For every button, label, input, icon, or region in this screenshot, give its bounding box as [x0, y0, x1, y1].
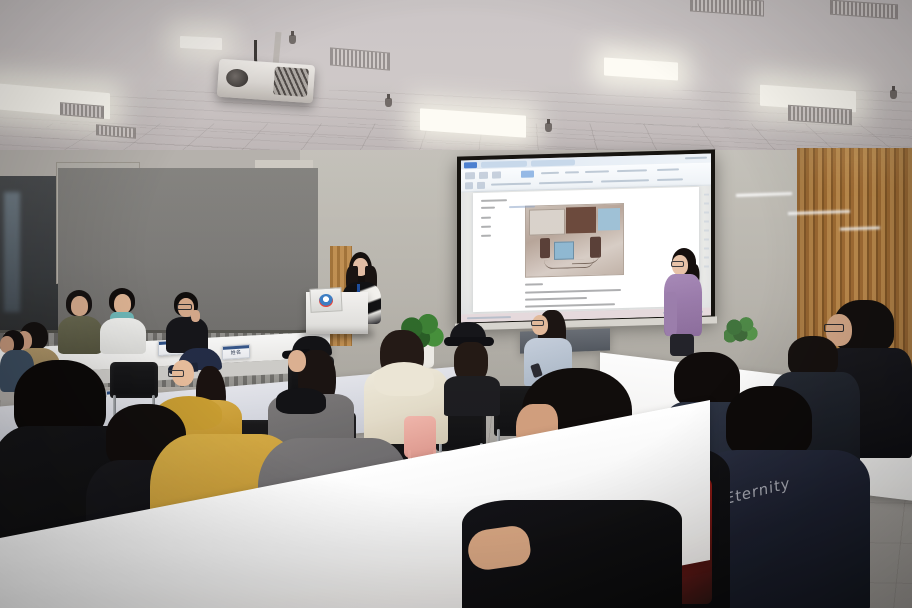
- projector-vent: [273, 67, 309, 97]
- photo-region: [554, 241, 574, 260]
- document-text-line: [481, 207, 495, 209]
- hair: [726, 386, 812, 458]
- air-vent: [690, 0, 764, 17]
- sprinkler-icon: [385, 98, 392, 107]
- app-logo-icon: [464, 162, 477, 168]
- presenter-at-screen: [662, 248, 708, 354]
- photo-region: [529, 209, 565, 236]
- attendee: [364, 330, 448, 444]
- laptop-sticker-icon: [319, 294, 334, 308]
- collar: [276, 388, 326, 414]
- light-panel: [180, 36, 222, 50]
- corridor-window: [0, 176, 63, 344]
- document-tab[interactable]: [481, 160, 527, 167]
- attendee: [462, 500, 682, 608]
- ribbon-label: [657, 178, 683, 181]
- photo-region: [540, 238, 550, 258]
- torso: [58, 316, 102, 354]
- attendee: [166, 292, 208, 352]
- sprinkler-icon: [545, 123, 552, 132]
- ribbon-icon[interactable]: [521, 170, 534, 177]
- glasses-icon: [168, 370, 184, 377]
- glasses-icon: [824, 324, 844, 332]
- ribbon-label: [565, 171, 579, 173]
- ribbon-icon[interactable]: [477, 182, 485, 189]
- potted-plant: [724, 316, 758, 344]
- sprinkler-icon: [890, 90, 897, 99]
- air-vent: [830, 0, 898, 19]
- ribbon-label: [601, 179, 649, 182]
- hood: [374, 362, 434, 396]
- light-panel: [604, 57, 678, 80]
- ribbon-label: [491, 183, 531, 186]
- attendee: [100, 288, 146, 352]
- document-text-line: [525, 283, 543, 286]
- ribbon-label: [617, 169, 647, 172]
- document-text-line: [525, 289, 621, 294]
- ribbon-label: [657, 168, 679, 171]
- document-tab[interactable]: [531, 159, 575, 166]
- ribbon-icon[interactable]: [479, 172, 488, 179]
- glasses-icon: [671, 261, 684, 267]
- document-text-line: [481, 199, 507, 202]
- photo-wire: [572, 253, 600, 265]
- ribbon-icon[interactable]: [492, 171, 501, 178]
- air-vent: [330, 47, 390, 70]
- ribbon-label: [585, 170, 609, 173]
- glasses-icon: [531, 320, 544, 326]
- head: [71, 296, 88, 316]
- hand: [191, 310, 200, 322]
- projector-lens-icon: [226, 68, 249, 87]
- document-photo: [525, 203, 624, 278]
- head: [114, 294, 131, 314]
- head: [288, 350, 306, 372]
- ribbon-icon[interactable]: [465, 172, 475, 179]
- document-text-line: [481, 235, 491, 237]
- document-text-line: [481, 226, 491, 228]
- classroom-photo: 姓名 姓名 姓名: [0, 0, 912, 608]
- sprinkler-icon: [289, 35, 296, 44]
- document-text-line: [525, 297, 587, 301]
- sleeve: [664, 292, 677, 336]
- attendee: [444, 322, 500, 408]
- attendee: [58, 290, 102, 352]
- document-text-line: [481, 217, 491, 219]
- laptop: [309, 287, 342, 313]
- glasses-icon: [177, 304, 192, 310]
- document-text-line: [525, 303, 615, 308]
- torso: [444, 376, 500, 416]
- torso: [100, 318, 146, 354]
- ribbon-label: [541, 172, 559, 175]
- ribbon-label: [539, 181, 593, 185]
- photo-region: [598, 208, 620, 231]
- ribbon-icon[interactable]: [465, 182, 473, 189]
- projector: [217, 59, 315, 104]
- window-glow: [4, 192, 20, 312]
- photo-region: [566, 207, 596, 234]
